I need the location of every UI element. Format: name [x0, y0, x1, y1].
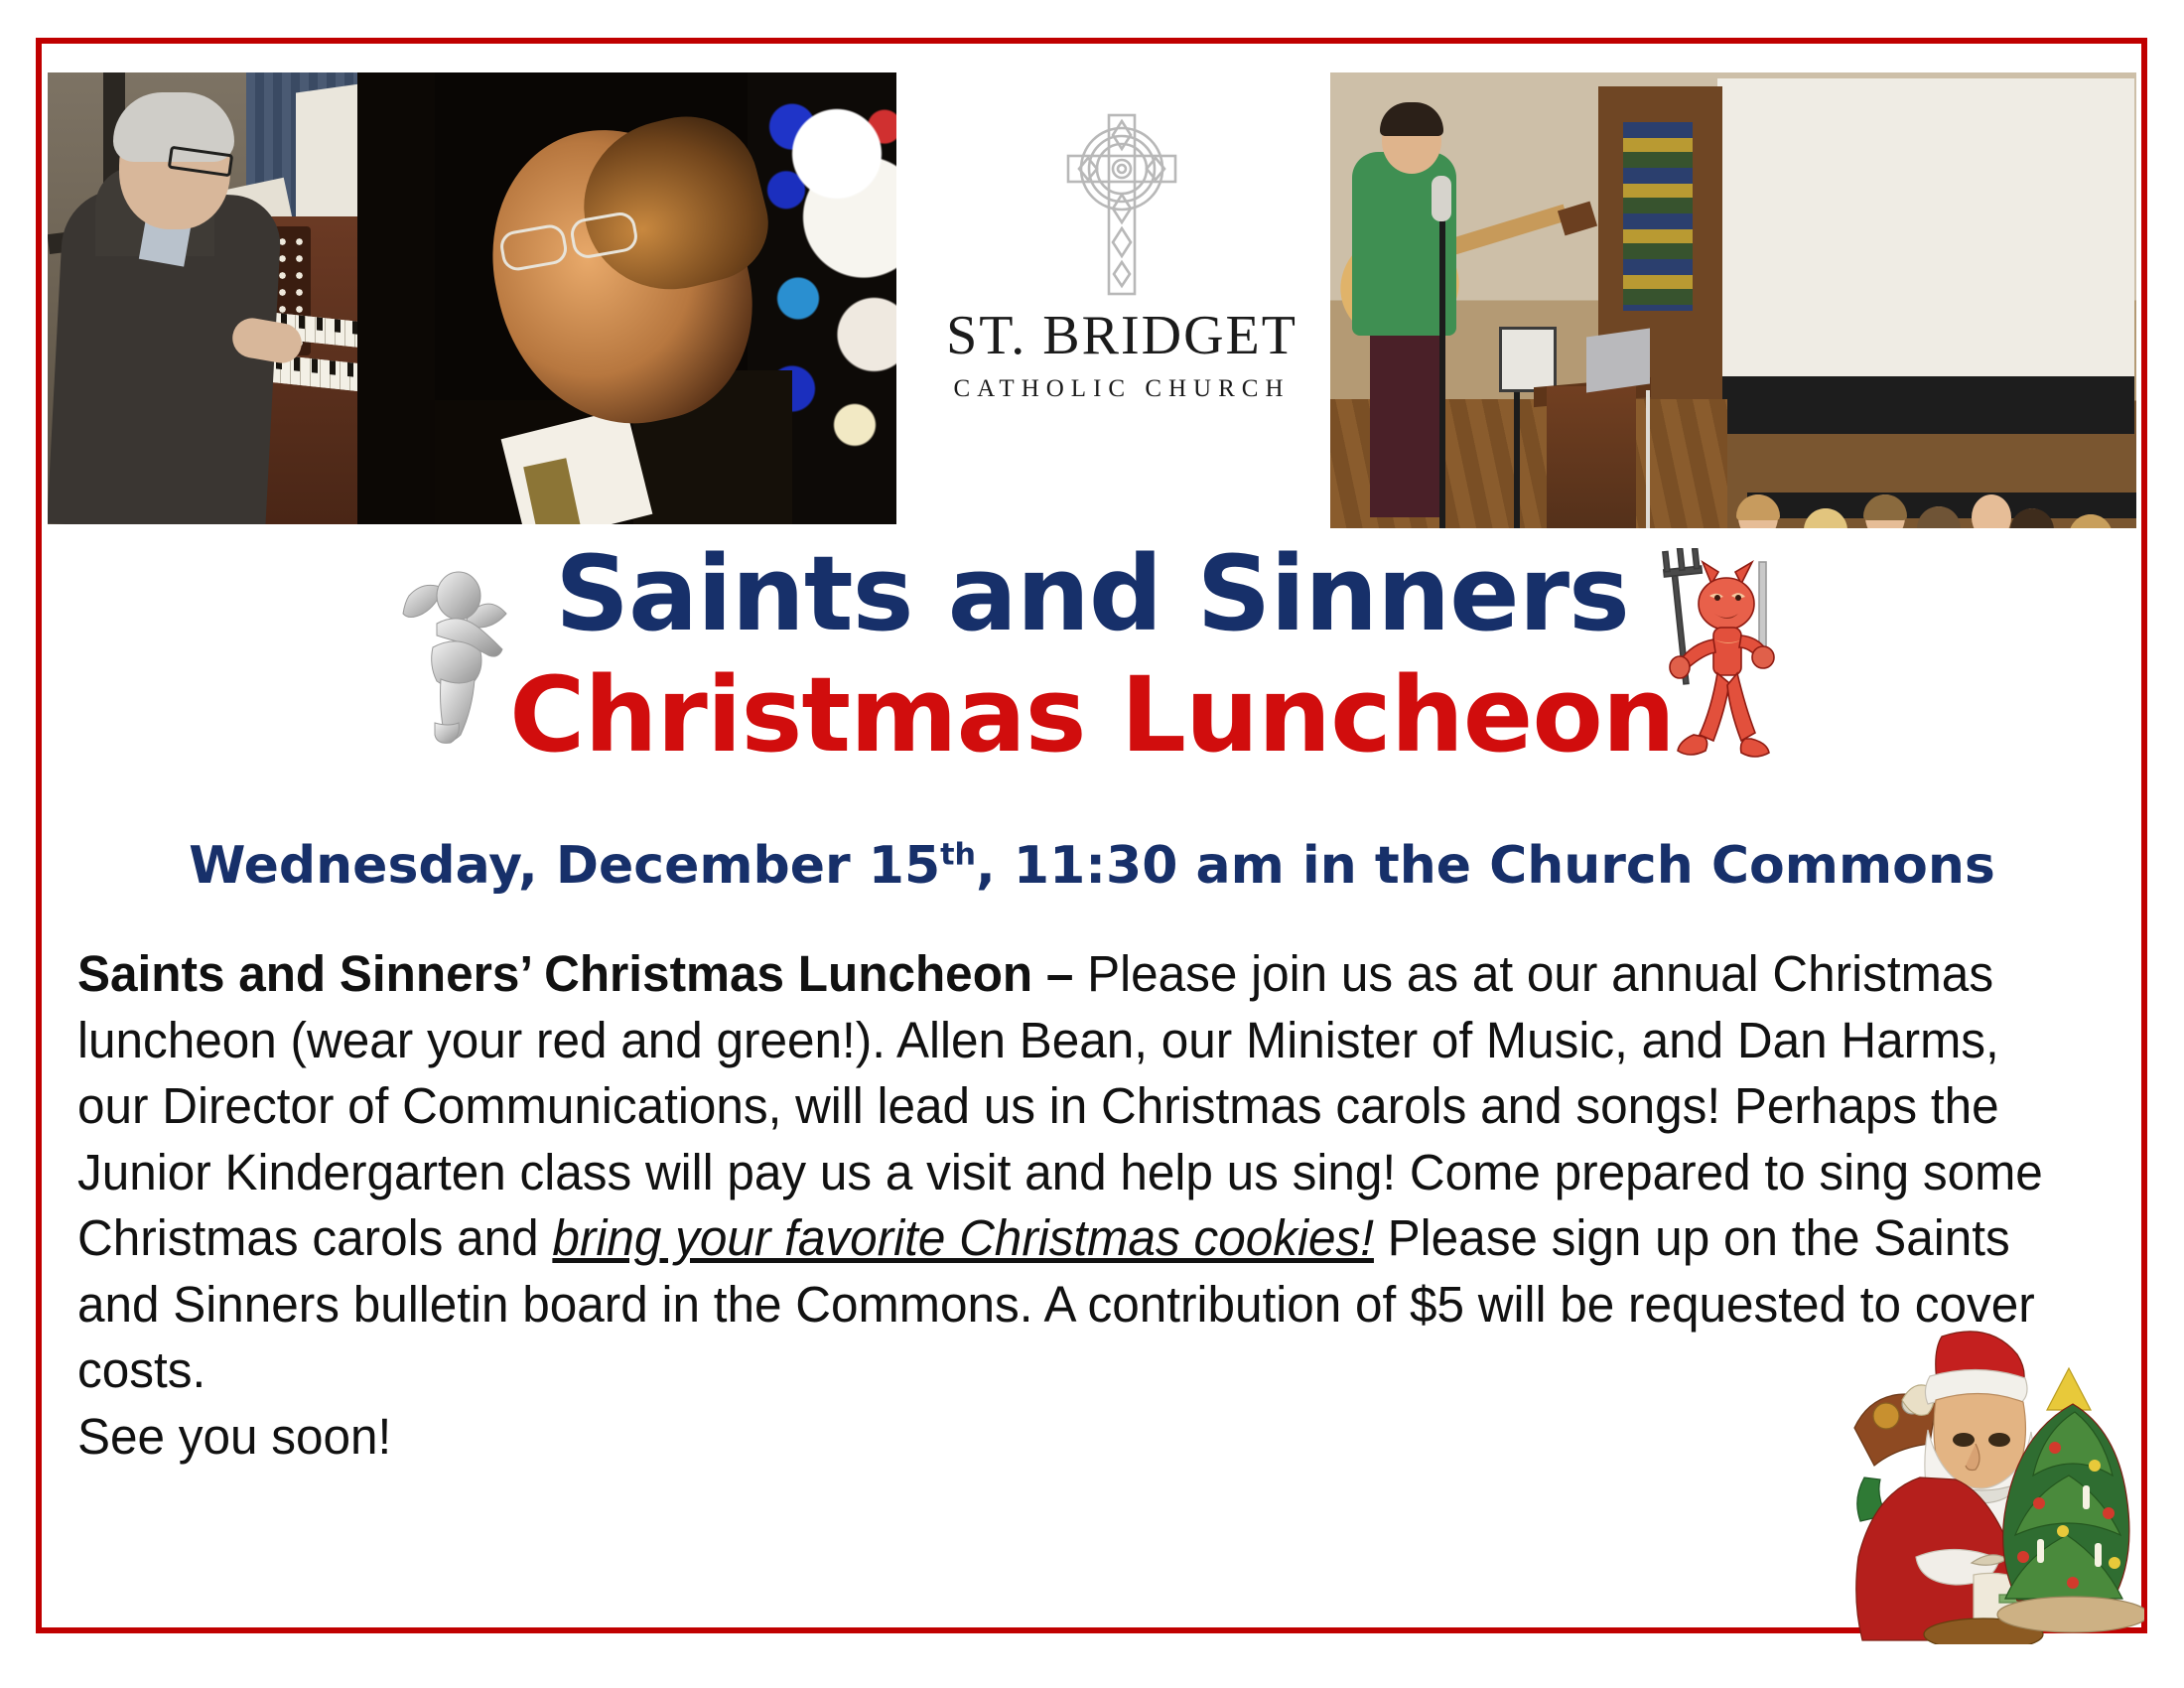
body-emphasis: bring your favorite Christmas cookies!	[552, 1209, 1374, 1266]
screen-lower-band	[1717, 376, 2134, 434]
portrait-photo	[435, 72, 896, 524]
tablet-device	[1499, 327, 1557, 392]
flyer-page: ST. BRIDGET CATHOLIC CHURCH	[0, 0, 2184, 1688]
subtitle-suffix: , 11:30 am in the Church Commons	[976, 836, 1995, 896]
guitarist-legs	[1370, 329, 1443, 517]
body-copy: Saints and Sinners’ Christmas Luncheon –…	[77, 941, 2061, 1470]
body-lead: Saints and Sinners’ Christmas Luncheon –	[77, 945, 1073, 1002]
microphone-stand	[1439, 182, 1445, 528]
projection-screen	[1717, 78, 2134, 376]
headline-line-2: Christmas Luncheon	[0, 657, 2184, 773]
power-cord	[1646, 390, 1650, 528]
subtitle-prefix: Wednesday, December 15	[189, 836, 940, 896]
stained-glass-panel	[1623, 122, 1693, 311]
church-logo: ST. BRIDGET CATHOLIC CHURCH	[923, 109, 1320, 357]
headline-line-1: Saints and Sinners	[0, 536, 2184, 651]
headline-block: Saints and Sinners Christmas Luncheon	[0, 536, 2184, 774]
body-closing: See you soon!	[77, 1404, 2061, 1471]
organist-photo	[48, 72, 435, 524]
laptop-icon	[1586, 329, 1650, 393]
logo-church-name: ST. BRIDGET	[923, 304, 1320, 367]
vintage-santa-icon	[1825, 1309, 2144, 1644]
wooden-podium	[1547, 386, 1636, 528]
subtitle-ordinal: th	[940, 838, 976, 873]
logo-church-subtitle: CATHOLIC CHURCH	[923, 375, 1320, 403]
choir-photo	[1330, 72, 2136, 528]
microphone-icon	[1432, 176, 1451, 221]
celtic-cross-icon	[1049, 109, 1194, 298]
event-datetime-line: Wednesday, December 15th, 11:30 am in th…	[0, 836, 2184, 896]
organ-shadow	[357, 72, 435, 524]
